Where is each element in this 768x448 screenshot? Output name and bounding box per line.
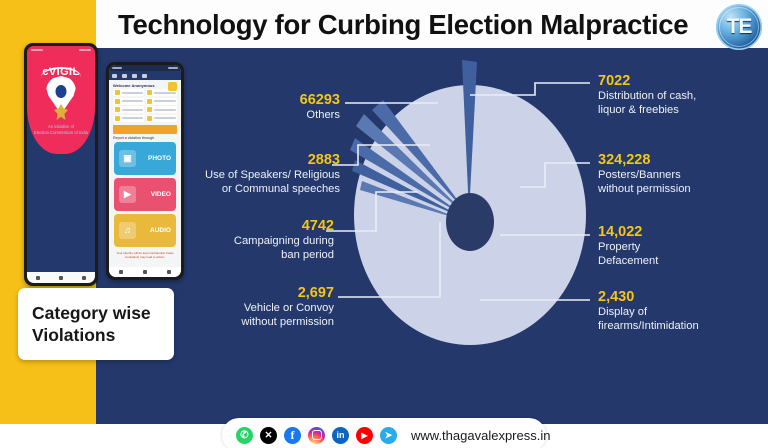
website-url[interactable]: www.thagavalexpress.in — [411, 428, 550, 443]
x-twitter-icon[interactable]: ✕ — [260, 427, 277, 444]
callout-distribution-cash: 7022 Distribution of cash, liquor & free… — [598, 73, 696, 117]
callout-desc-line: Defacement — [598, 255, 658, 269]
callout-value: 14,022 — [598, 224, 658, 241]
facebook-icon[interactable]: f — [284, 427, 301, 444]
callout-desc-line: Vehicle or Convoy — [186, 302, 334, 316]
callout-desc-line: Campaigning during — [180, 235, 334, 249]
callout-vehicle-convoy: 2,697 Vehicle or Convoy without permissi… — [186, 285, 334, 329]
callout-firearms-intimidation: 2,430 Display of firearms/Intimidation — [598, 289, 699, 333]
callout-property-defacement: 14,022 Property Defacement — [598, 224, 658, 268]
telegram-icon[interactable]: ➤ — [380, 427, 397, 444]
callout-value: 2,697 — [186, 285, 334, 302]
callout-desc-line: Posters/Banners — [598, 169, 691, 183]
callout-desc-line: liquor & freebies — [598, 104, 696, 118]
donut-center-hub — [446, 193, 494, 251]
callout-others: 66293 Others — [188, 92, 340, 123]
callout-desc-line: Property — [598, 241, 658, 255]
callout-value: 324,228 — [598, 152, 691, 169]
infographic-root: Technology for Curbing Election Malpract… — [0, 0, 768, 448]
callout-desc-line: without permission — [598, 183, 691, 197]
whatsapp-icon[interactable]: ✆ — [236, 427, 253, 444]
youtube-icon[interactable]: ▶ — [356, 427, 373, 444]
callout-value: 2883 — [168, 152, 340, 169]
callout-value: 4742 — [180, 218, 334, 235]
instagram-icon[interactable] — [308, 427, 325, 444]
callout-desc-line: firearms/Intimidation — [598, 320, 699, 334]
callout-value: 2,430 — [598, 289, 699, 306]
callout-desc-line: or Communal speeches — [168, 183, 340, 197]
callout-desc-line: ban period — [180, 249, 334, 263]
callout-posters-banners: 324,228 Posters/Banners without permissi… — [598, 152, 691, 196]
linkedin-icon[interactable]: in — [332, 427, 349, 444]
callout-value: 66293 — [188, 92, 340, 109]
callout-desc-line: Use of Speakers/ Religious — [168, 169, 340, 183]
callout-speakers-religious: 2883 Use of Speakers/ Religious or Commu… — [168, 152, 340, 196]
callout-value: 7022 — [598, 73, 696, 90]
callout-campaigning-ban-period: 4742 Campaigning during ban period — [180, 218, 334, 262]
callout-desc-line: Others — [188, 109, 340, 123]
footer-social-bar: ✆ ✕ f in ▶ ➤ www.thagavalexpress.in — [222, 418, 546, 448]
callout-desc-line: without permission — [186, 316, 334, 330]
callout-desc-line: Display of — [598, 306, 699, 320]
callout-desc-line: Distribution of cash, — [598, 90, 696, 104]
